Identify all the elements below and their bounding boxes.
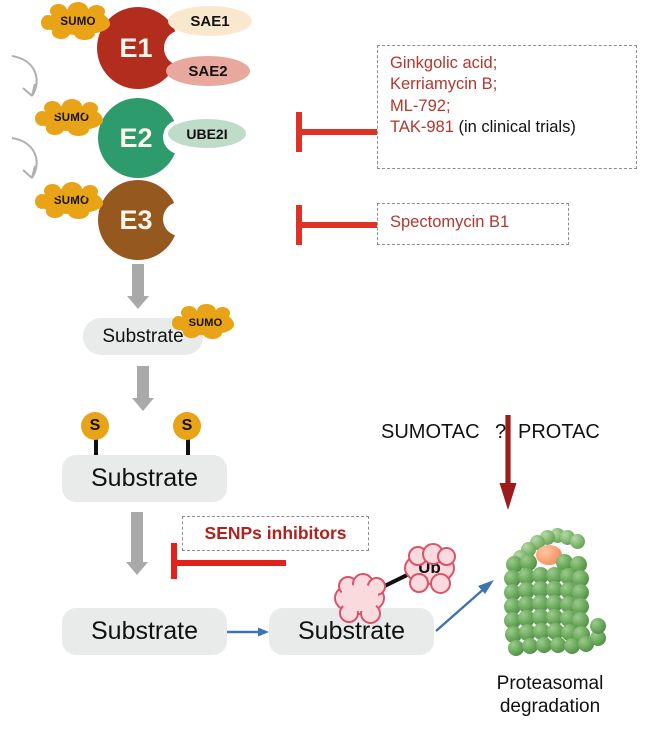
inhibitor-tbar-e1e2-bar <box>296 129 377 135</box>
inhibitor-box-e1e2: Ginkgolic acid; Kerriamycin B; ML-792; T… <box>377 45 637 169</box>
partner-sae1: SAE1 <box>168 6 252 36</box>
enzyme-e3-notch <box>163 202 197 236</box>
flow-arrow-3-head <box>126 562 148 575</box>
inhibitor-box-e3: Spectomycin B1 <box>377 203 569 245</box>
proteasome-caption-line2: degradation <box>455 695 645 718</box>
flow-arrow-3-shaft <box>131 512 143 564</box>
sumo-blob-substrate: SUMO <box>177 310 234 335</box>
s-tag-right-label: S <box>182 417 193 435</box>
sumotac-label: SUMOTAC <box>381 421 480 444</box>
flow-arrow-2-shaft <box>137 366 149 400</box>
ub-cloud-upper: Ub <box>404 551 455 585</box>
proteasome-caption: Proteasomal degradation <box>455 672 645 718</box>
substrate-desumoylated: Substrate <box>62 608 227 655</box>
drug-line-4-name: TAK-981 <box>390 118 454 136</box>
flow-arrow-1-head <box>127 296 149 309</box>
drug-line-1: Ginkgolic acid; <box>390 53 626 74</box>
ub-cloud-lower: Ub <box>334 581 385 615</box>
partner-sae2-label: SAE2 <box>188 63 227 80</box>
partner-sae1-label: SAE1 <box>190 13 229 30</box>
sumo-blob-e1-label: SUMO <box>60 16 95 28</box>
flow-arrow-2-head <box>132 398 154 411</box>
senp-inhibitor-label: SENPs inhibitors <box>183 517 368 550</box>
senp-tbar-bar <box>171 560 286 566</box>
protac-label: PROTAC <box>518 421 600 444</box>
drug-line-2: Kerriamycin B; <box>390 74 626 95</box>
blue-arrow-1 <box>227 620 273 644</box>
sumo-blob-e1: SUMO <box>46 8 110 35</box>
pathway-diagram: E1 SUMO SAE1 SAE2 E2 SUMO UBE2I E3 SUM <box>0 0 646 729</box>
drug-spectomycin: Spectomycin B1 <box>378 204 568 240</box>
enzyme-e3-label: E3 <box>119 205 152 236</box>
partner-sae2: SAE2 <box>166 56 250 86</box>
enzyme-e2-label: E2 <box>119 123 152 154</box>
drug-line-3: ML-792; <box>390 96 626 117</box>
inhibitor-tbar-e3-bar <box>296 222 377 228</box>
substrate-sumoylated-label: Substrate <box>102 326 183 348</box>
transfer-arrow-e2-e3 <box>2 132 64 194</box>
protac-arrow <box>497 415 527 513</box>
proteasome-caption-line1: Proteasomal <box>455 672 645 695</box>
partner-ube2i-label: UBE2I <box>186 126 227 142</box>
s-tag-left-label: S <box>90 417 101 435</box>
substrate-poly-sumoylated-label: Substrate <box>91 464 198 493</box>
flow-arrow-1-shaft <box>132 264 144 298</box>
substrate-desumoylated-label: Substrate <box>91 617 198 646</box>
drug-line-4-note: (in clinical trials) <box>454 118 576 136</box>
s-tag-right: S <box>173 412 201 440</box>
substrate-poly-sumoylated: Substrate <box>62 455 227 502</box>
drug-list: Ginkgolic acid; Kerriamycin B; ML-792; T… <box>378 46 636 146</box>
proteasome-barrel <box>484 528 614 673</box>
transfer-arrow-e1-e2 <box>2 50 64 112</box>
partner-ube2i: UBE2I <box>168 119 246 148</box>
enzyme-e1-label: E1 <box>119 33 152 64</box>
s-tag-left: S <box>81 412 109 440</box>
senp-inhibitor-box: SENPs inhibitors <box>182 516 369 551</box>
drug-line-4: TAK-981 (in clinical trials) <box>390 117 626 138</box>
